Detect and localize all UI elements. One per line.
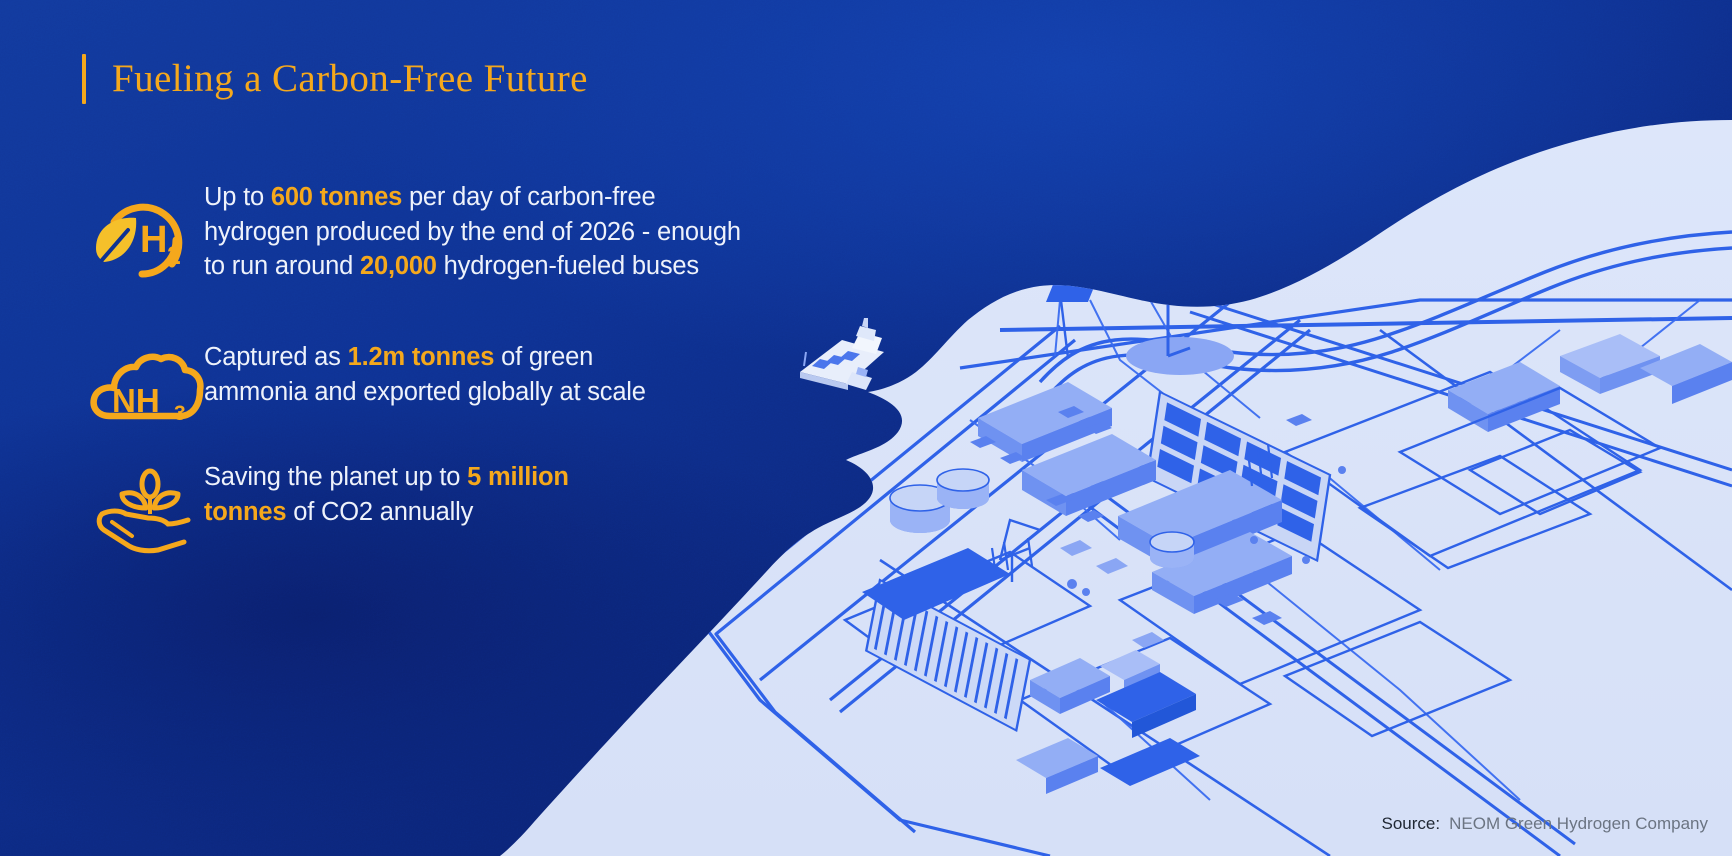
svg-text:2: 2 [167,242,181,270]
title-accent-bar [82,54,86,104]
fact3-part-0: Saving the planet up to [204,463,467,491]
solar-field-striped [866,580,1030,730]
svg-text:3: 3 [174,402,186,425]
crane-tower [1000,520,1040,582]
warehouse-long-a [978,382,1112,462]
fact-item-ammonia: NH 3 Captured as 1.2m tonnes of green am… [88,338,674,442]
fact2-part-1: 1.2m tonnes [348,343,495,371]
source-attribution: Source: NEOM Green Hydrogen Company [1382,814,1708,834]
hand-plant-icon [88,458,204,562]
site-roads [700,300,1732,856]
vacant-plots [1400,388,1660,514]
fact3-part-2: of CO2 annually [286,498,473,526]
storage-tank-1 [890,485,950,533]
pipeline-network [900,300,1700,800]
fact-item-hydrogen: H 2 Up to 600 tonnes per day of carbon-f… [88,178,744,284]
fact-text-ammonia: Captured as 1.2m tonnes of green ammonia… [204,338,674,409]
cargo-ship [800,318,884,390]
warehouse-long-c [1118,470,1282,568]
ammonia-cloud-icon: NH 3 [88,338,204,442]
plot-boundaries [845,372,1640,770]
equipment-cluster [970,406,1312,648]
svg-text:NH: NH [112,382,160,419]
fact1-part-0: Up to [204,183,271,211]
hydrogen-leaf-icon: H 2 [88,178,204,282]
warehouse-long-b [1022,434,1156,516]
fact-item-co2: Saving the planet up to 5 million tonnes… [88,458,584,562]
fact1-part-4: hydrogen-fueled buses [437,252,699,280]
page-title-group: Fueling a Carbon-Free Future [82,54,588,104]
fact1-part-1: 600 tonnes [271,183,402,211]
east-complex [1448,0,1732,432]
south-blocks [1016,650,1200,794]
solar-panel-array [1147,392,1330,561]
misc-details [1067,466,1346,596]
fact-text-hydrogen: Up to 600 tonnes per day of carbon-free … [204,178,744,284]
page-title: Fueling a Carbon-Free Future [112,54,588,104]
storage-tank-3 [1150,532,1194,568]
fact-text-co2: Saving the planet up to 5 million tonnes… [204,458,584,529]
tall-mast [1060,292,1068,358]
svg-text:H: H [140,219,167,261]
coastal-road [1040,232,1732,394]
source-value: NEOM Green Hydrogen Company [1449,814,1708,834]
source-label: Source: [1382,814,1441,834]
roof-pad [1046,282,1096,302]
helipad [1126,286,1234,375]
storage-tank-2 [937,469,989,509]
tugboat [846,367,872,390]
chimney-stacks [992,444,1272,576]
fact1-part-3: 20,000 [360,252,437,280]
fact2-part-0: Captured as [204,343,348,371]
paved-apron [862,548,1010,620]
warehouse-long-d [1152,532,1292,614]
infographic-canvas: Fueling a Carbon-Free Future H 2 Up to 6… [0,0,1732,856]
